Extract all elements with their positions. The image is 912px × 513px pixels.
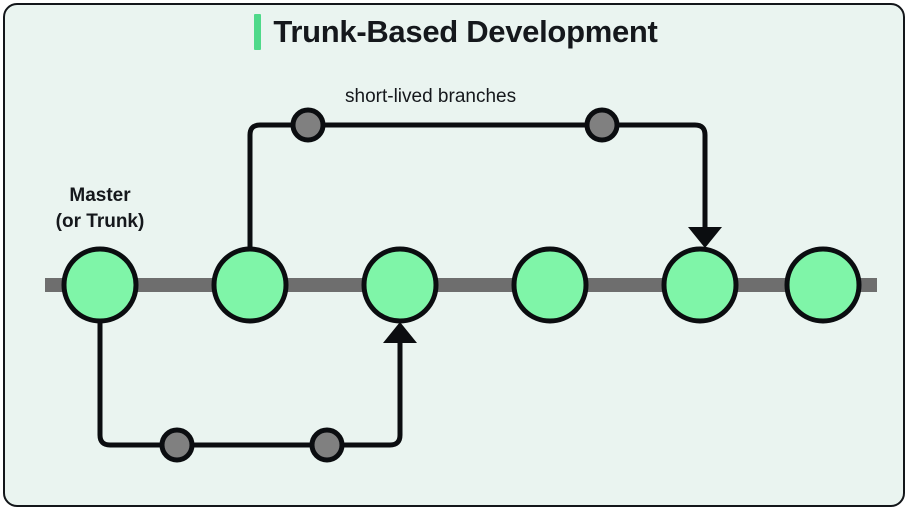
- master-label-line-2: (or Trunk): [40, 209, 160, 235]
- short-lived-branches-label: short-lived branches: [345, 86, 516, 108]
- master-trunk-label: Master (or Trunk): [40, 183, 160, 234]
- top-branch-commit-2[interactable]: [587, 110, 617, 140]
- bottom-branch-commit-1[interactable]: [162, 430, 192, 460]
- commit-1[interactable]: [64, 249, 136, 321]
- bottom-branch-merge-arrow-icon: [383, 322, 417, 343]
- commit-3[interactable]: [364, 249, 436, 321]
- diagram-card: Trunk-Based Development short-live: [3, 3, 905, 507]
- commit-2[interactable]: [214, 249, 286, 321]
- top-branch-merge-arrow-icon: [688, 227, 722, 248]
- bottom-branch-path: [100, 317, 400, 445]
- diagram-canvas: Trunk-Based Development short-live: [0, 0, 912, 513]
- commit-5[interactable]: [664, 249, 736, 321]
- diagram-graphics: [5, 5, 905, 507]
- master-label-line-1: Master: [40, 183, 160, 209]
- top-branch-commit-1[interactable]: [293, 110, 323, 140]
- top-branch-path: [250, 125, 705, 255]
- trunk-line: [45, 278, 877, 292]
- commit-6[interactable]: [787, 249, 859, 321]
- bottom-branch-commit-2[interactable]: [312, 430, 342, 460]
- commit-4[interactable]: [514, 249, 586, 321]
